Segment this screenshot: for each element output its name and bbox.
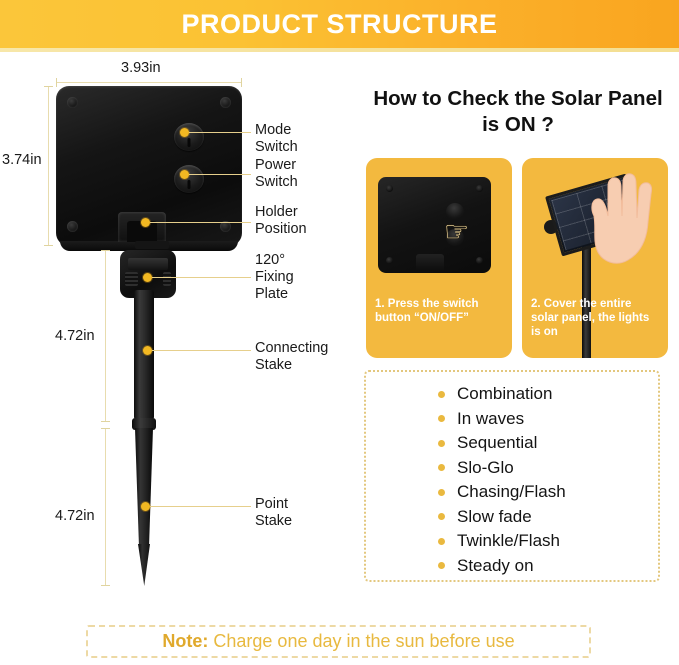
list-item: Sequential <box>438 431 566 456</box>
mode-label: Chasing/Flash <box>457 482 566 502</box>
mode-label: In waves <box>457 409 524 429</box>
fixing-plate-bar <box>128 258 168 270</box>
bullet-icon <box>438 513 445 520</box>
dimension-width-line <box>56 82 242 83</box>
callout-label-mode-switch: Mode Switch <box>255 122 298 156</box>
dimension-height-tick-top <box>44 86 53 87</box>
mode-label: Sequential <box>457 433 537 453</box>
fixing-plate-ridges-right <box>163 272 171 286</box>
dimension-height-line <box>48 86 49 246</box>
mode-label: Steady on <box>457 556 534 576</box>
stake-tip <box>138 544 150 586</box>
connecting-stake-illustration <box>134 290 154 420</box>
callout-dot-connecting-stake <box>143 346 152 355</box>
header-underline <box>0 48 679 52</box>
mode-label: Combination <box>457 384 552 404</box>
dimension-width-label: 3.93in <box>121 60 161 76</box>
mode-label: Slo-Glo <box>457 458 514 478</box>
callout-dot-holder-position <box>141 218 150 227</box>
dimension-width-tick-right <box>241 78 242 87</box>
callout-leader-point-stake <box>150 506 251 507</box>
note-body: Charge one day in the sun before use <box>208 631 514 651</box>
lighting-modes-list: Combination In waves Sequential Slo-Glo … <box>438 382 566 578</box>
note-box: Note: Charge one day in the sun before u… <box>86 625 591 658</box>
lighting-modes-box: Combination In waves Sequential Slo-Glo … <box>364 370 660 582</box>
dimension-height-label: 3.74in <box>2 152 42 168</box>
press-switch-caption: 1. Press the switch button “ON/OFF” <box>375 297 505 325</box>
callout-label-power-switch: Power Switch <box>255 157 298 191</box>
mini-screw-top-left-icon <box>386 185 393 192</box>
list-item: Combination <box>438 382 566 407</box>
dimension-point-stake-label: 4.72in <box>55 508 95 524</box>
callout-dot-point-stake <box>141 502 150 511</box>
callout-label-fixing-plate: 120° Fixing Plate <box>255 252 294 303</box>
screw-top-right-icon <box>220 97 231 108</box>
dimension-connecting-stake-label: 4.72in <box>55 328 95 344</box>
list-item: Chasing/Flash <box>438 480 566 505</box>
list-item: Slo-Glo <box>438 456 566 481</box>
callout-leader-fixing-plate <box>152 277 251 278</box>
note-prefix: Note: <box>162 631 208 651</box>
screw-top-left-icon <box>67 97 78 108</box>
press-switch-card: ☞ 1. Press the switch button “ON/OFF” <box>366 158 512 358</box>
hand-cover-icon <box>584 172 662 272</box>
callout-leader-holder-position <box>150 222 251 223</box>
dimension-point-tick-bottom <box>101 585 110 586</box>
dimension-point-tick-top <box>101 428 110 429</box>
panel-foot <box>135 241 169 249</box>
bullet-icon <box>438 415 445 422</box>
dimension-connecting-tick-top <box>101 250 110 251</box>
mini-screw-top-right-icon <box>476 185 483 192</box>
mini-screw-bottom-right-icon <box>476 257 483 264</box>
list-item: Twinkle/Flash <box>438 529 566 554</box>
callout-label-point-stake: Point Stake <box>255 496 292 530</box>
callout-dot-power-switch <box>180 170 189 179</box>
list-item: In waves <box>438 407 566 432</box>
fixing-plate-ridges-left <box>125 272 138 286</box>
bullet-icon <box>438 562 445 569</box>
mini-solar-panel-back <box>378 177 491 273</box>
callout-leader-mode-switch <box>189 132 251 133</box>
callout-dot-mode-switch <box>180 128 189 137</box>
dimension-connecting-tick-bottom <box>101 421 110 422</box>
bullet-icon <box>438 464 445 471</box>
mode-label: Twinkle/Flash <box>457 531 560 551</box>
callout-dot-fixing-plate <box>143 273 152 282</box>
dimension-width-tick-left <box>56 78 57 87</box>
header-banner: PRODUCT STRUCTURE <box>0 0 679 48</box>
point-stake-illustration <box>135 428 153 546</box>
list-item: Slow fade <box>438 505 566 530</box>
page-title: PRODUCT STRUCTURE <box>182 9 498 40</box>
dimension-connecting-stake-line <box>105 250 106 422</box>
how-to-check-title: How to Check the Solar Panel is ON ? <box>372 86 664 138</box>
list-item: Steady on <box>438 554 566 579</box>
bullet-icon <box>438 391 445 398</box>
power-switch-button[interactable] <box>174 165 204 193</box>
mode-label: Slow fade <box>457 507 532 527</box>
cover-panel-card: 2. Cover the entire solar panel, the lig… <box>522 158 668 358</box>
dimension-height-tick-bottom <box>44 245 53 246</box>
hand-pointer-icon: ☞ <box>444 218 469 246</box>
screw-bottom-left-icon <box>67 221 78 232</box>
callout-leader-connecting-stake <box>152 350 251 351</box>
callout-label-connecting-stake: Connecting Stake <box>255 340 328 374</box>
mini-holder-slot <box>416 254 444 271</box>
mode-switch-button[interactable] <box>174 123 204 151</box>
callout-label-holder-position: Holder Position <box>255 204 307 238</box>
bullet-icon <box>438 489 445 496</box>
cover-panel-caption: 2. Cover the entire solar panel, the lig… <box>531 297 661 339</box>
note-text: Note: Charge one day in the sun before u… <box>162 631 514 652</box>
callout-leader-power-switch <box>189 174 251 175</box>
mini-screw-bottom-left-icon <box>386 257 393 264</box>
bullet-icon <box>438 440 445 447</box>
bullet-icon <box>438 538 445 545</box>
dimension-point-stake-line <box>105 428 106 586</box>
holder-position-slot <box>118 212 166 242</box>
